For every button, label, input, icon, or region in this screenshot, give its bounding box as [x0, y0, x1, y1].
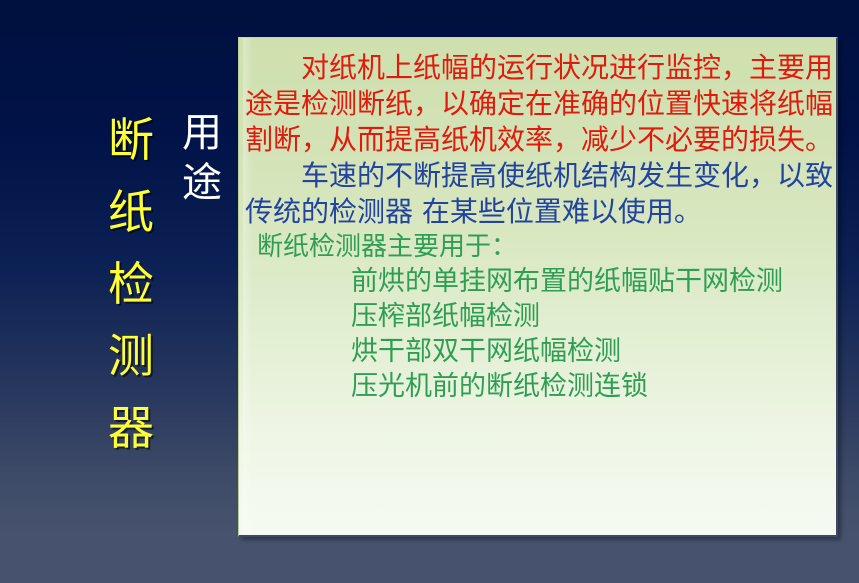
- list-item: 压光机前的断纸检测连锁: [351, 369, 834, 404]
- title-char-1: 断: [108, 104, 154, 176]
- list-item: 烘干部双干网纸幅检测: [351, 334, 834, 369]
- list-heading: 断纸检测器主要用于：: [245, 230, 834, 264]
- background-paragraph: 车速的不断提高使纸机结构发生变化，以致传统的检测器 在某些位置难以使用。: [245, 158, 834, 230]
- subtitle-char-2: 途: [182, 158, 222, 208]
- title-char-4: 测: [108, 320, 154, 392]
- slide-subtitle-vertical: 用 途: [176, 108, 228, 208]
- title-char-5: 器: [108, 392, 154, 464]
- title-char-3: 检: [108, 248, 154, 320]
- presentation-slide: 断 纸 检 测 器 用 途 对纸机上纸幅的运行状况进行监控，主要用途是检测断纸，…: [0, 0, 859, 583]
- panel-body: 对纸机上纸幅的运行状况进行监控，主要用途是检测断纸，以确定在准确的位置快速将纸幅…: [239, 38, 836, 404]
- detection-application-list: 前烘的单挂网布置的纸幅贴干网检测 压榨部纸幅检测 烘干部双干网纸幅检测 压光机前…: [245, 264, 834, 404]
- list-item: 压榨部纸幅检测: [351, 299, 834, 334]
- subtitle-char-1: 用: [182, 108, 222, 158]
- content-panel: 对纸机上纸幅的运行状况进行监控，主要用途是检测断纸，以确定在准确的位置快速将纸幅…: [238, 37, 838, 537]
- list-item: 前烘的单挂网布置的纸幅贴干网检测: [351, 264, 834, 299]
- purpose-paragraph: 对纸机上纸幅的运行状况进行监控，主要用途是检测断纸，以确定在准确的位置快速将纸幅…: [245, 50, 834, 158]
- title-char-2: 纸: [108, 176, 154, 248]
- slide-title-vertical: 断 纸 检 测 器: [96, 104, 166, 464]
